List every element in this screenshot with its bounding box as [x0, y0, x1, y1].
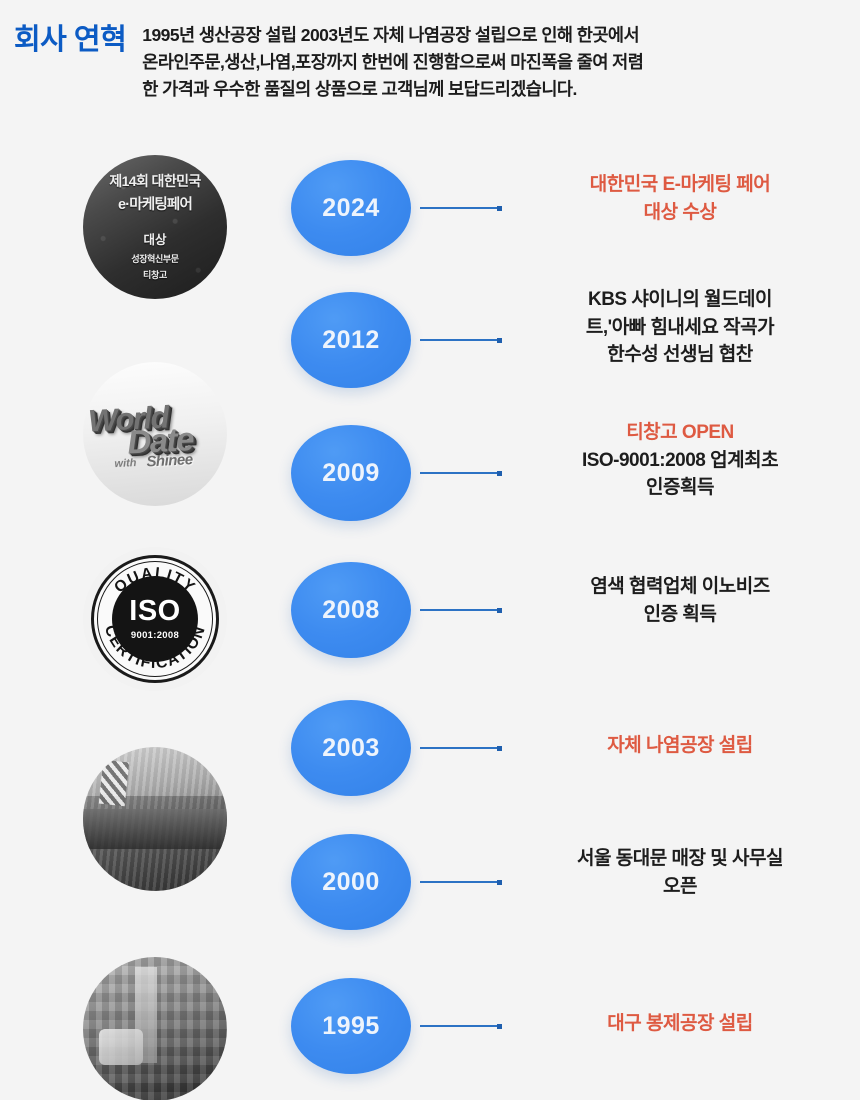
connector-dot-icon [497, 880, 502, 885]
connector-2000 [420, 877, 502, 887]
connector-dot-icon [497, 608, 502, 613]
description-line: ISO-9001:2008 업계최초 [508, 447, 852, 475]
timeline-row: 2008 염색 협력업체 이노비즈 인증 획득 [0, 562, 860, 696]
description-line: 인증획득 [508, 474, 852, 502]
connector-dot-icon [497, 746, 502, 751]
connector-line [420, 1025, 498, 1027]
description-line: 오픈 [508, 873, 852, 901]
description-line: 티창고 OPEN [508, 419, 852, 447]
description-line: 인증 획득 [508, 601, 852, 629]
connector-dot-icon [497, 338, 502, 343]
connector-2008 [420, 605, 502, 615]
description-line: 서울 동대문 매장 및 사무실 [508, 845, 852, 873]
connector-2003 [420, 743, 502, 753]
year-label: 2003 [322, 734, 380, 763]
year-bubble-2009[interactable]: 2009 [291, 425, 411, 521]
timeline-row: 1995 대구 봉제공장 설립 [0, 978, 860, 1100]
timeline-row: 2009 티창고 OPEN ISO-9001:2008 업계최초 인증획득 [0, 425, 860, 559]
connector-line [420, 339, 498, 341]
entry-description-2008: 염색 협력업체 이노비즈 인증 획득 [508, 573, 852, 628]
year-bubble-2008[interactable]: 2008 [291, 562, 411, 658]
year-bubble-2024[interactable]: 2024 [291, 160, 411, 256]
timeline-row: 2000 서울 동대문 매장 및 사무실 오픈 [0, 834, 860, 968]
entry-description-2003: 자체 나염공장 설립 [508, 732, 852, 760]
header-line: 1995년 생산공장 설립 2003년도 자체 나염공장 설립으로 인해 한곳에… [142, 22, 846, 49]
entry-description-2000: 서울 동대문 매장 및 사무실 오픈 [508, 845, 852, 900]
description-line: 대구 봉제공장 설립 [508, 1010, 852, 1038]
year-label: 2024 [322, 194, 380, 223]
connector-dot-icon [497, 206, 502, 211]
entry-description-1995: 대구 봉제공장 설립 [508, 1010, 852, 1038]
page-header: 회사 연혁 1995년 생산공장 설립 2003년도 자체 나염공장 설립으로 … [0, 0, 860, 140]
year-label: 1995 [322, 1012, 380, 1041]
year-label: 2009 [322, 459, 380, 488]
year-bubble-2012[interactable]: 2012 [291, 292, 411, 388]
timeline-row: 2012 KBS 샤이니의 월드데이 트,'아빠 힘내세요 작곡가 한수성 선생… [0, 292, 860, 426]
description-line: 대한민국 E-마케팅 페어 [508, 171, 852, 199]
connector-dot-icon [497, 1024, 502, 1029]
description-line: 대상 수상 [508, 199, 852, 227]
page-title: 회사 연혁 [14, 22, 126, 57]
connector-line [420, 747, 498, 749]
description-line: KBS 샤이니의 월드데이 [508, 286, 852, 314]
header-line: 온라인주문,생산,나염,포장까지 한번에 진행함으로써 마진폭을 줄여 저렴 [142, 49, 846, 76]
connector-dot-icon [497, 471, 502, 476]
connector-line [420, 207, 498, 209]
entry-description-2009: 티창고 OPEN ISO-9001:2008 업계최초 인증획득 [508, 419, 852, 502]
header-description: 1995년 생산공장 설립 2003년도 자체 나염공장 설립으로 인해 한곳에… [142, 22, 846, 102]
timeline-row: 2003 자체 나염공장 설립 [0, 700, 860, 834]
year-bubble-2003[interactable]: 2003 [291, 700, 411, 796]
year-label: 2008 [322, 596, 380, 625]
year-bubble-1995[interactable]: 1995 [291, 978, 411, 1074]
connector-line [420, 609, 498, 611]
connector-2012 [420, 335, 502, 345]
timeline-row: 2024 대한민국 E-마케팅 페어 대상 수상 [0, 160, 860, 294]
header-line: 한 가격과 우수한 품질의 상품으로 고객님께 보답드리겠습니다. [142, 76, 846, 103]
connector-line [420, 472, 498, 474]
connector-2009 [420, 468, 502, 478]
year-label: 2012 [322, 326, 380, 355]
description-line: 트,'아빠 힘내세요 작곡가 [508, 314, 852, 342]
year-label: 2000 [322, 868, 380, 897]
description-line: 자체 나염공장 설립 [508, 732, 852, 760]
connector-line [420, 881, 498, 883]
year-bubble-2000[interactable]: 2000 [291, 834, 411, 930]
connector-2024 [420, 203, 502, 213]
entry-description-2024: 대한민국 E-마케팅 페어 대상 수상 [508, 171, 852, 226]
description-line: 염색 협력업체 이노비즈 [508, 573, 852, 601]
timeline: 제14회 대한민국 e·마케팅페어 대상 성장혁신부문 티창고 World Da… [0, 140, 860, 1100]
company-history-page: 회사 연혁 1995년 생산공장 설립 2003년도 자체 나염공장 설립으로 … [0, 0, 860, 1100]
entry-description-2012: KBS 샤이니의 월드데이 트,'아빠 힘내세요 작곡가 한수성 선생님 협찬 [508, 286, 852, 369]
description-line: 한수성 선생님 협찬 [508, 341, 852, 369]
connector-1995 [420, 1021, 502, 1031]
